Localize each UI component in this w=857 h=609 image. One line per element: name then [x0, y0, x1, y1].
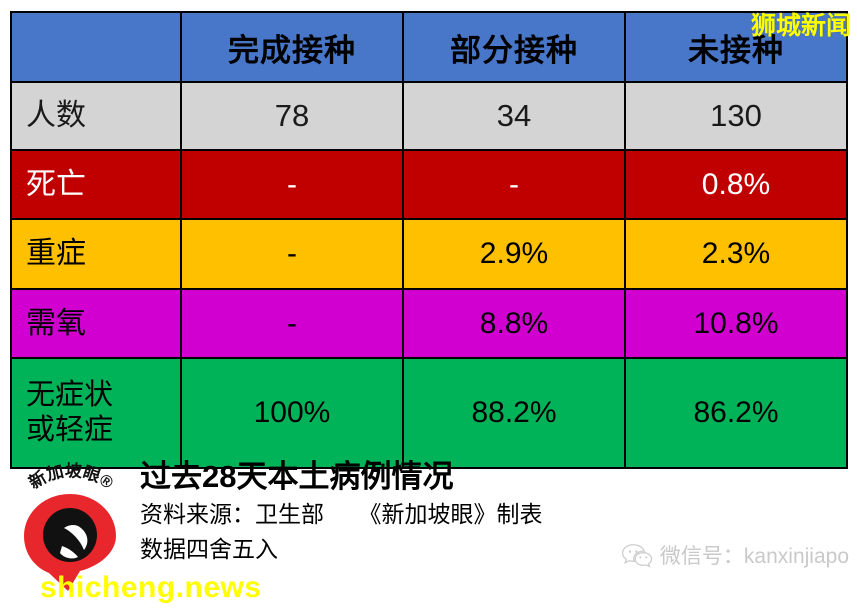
cell-severe-fully: - — [181, 219, 403, 289]
wechat-handle-block: 微信号：kanxinjiapo — [621, 540, 849, 570]
header-cell-blank — [11, 12, 181, 82]
row-label-mild: 无症状 或轻症 — [11, 358, 181, 468]
table-row-severe: 重症 - 2.9% 2.3% — [11, 219, 847, 289]
cell-deaths-fully: - — [181, 150, 403, 219]
row-label-oxygen: 需氧 — [11, 289, 181, 358]
cell-oxygen-fully: - — [181, 289, 403, 358]
cell-mild-unvaccinated: 86.2% — [625, 358, 847, 468]
cell-case-count-fully: 78 — [181, 82, 403, 150]
footer-note-line: 数据四舍五入 — [140, 532, 700, 568]
row-label-deaths: 死亡 — [11, 150, 181, 219]
footer-title: 过去28天本土病例情况 — [140, 458, 700, 497]
covid-stats-table: 完成接种 部分接种 未接种 人数 78 34 130 死亡 - - 0.8% 重… — [10, 11, 848, 469]
cell-oxygen-partial: 8.8% — [403, 289, 625, 358]
cell-mild-partial: 88.2% — [403, 358, 625, 468]
svg-text:新加坡眼®: 新加坡眼® — [25, 462, 117, 493]
table-header-row: 完成接种 部分接种 未接种 — [11, 12, 847, 82]
table-row-deaths: 死亡 - - 0.8% — [11, 150, 847, 219]
header-cell-partially-vaccinated: 部分接种 — [403, 12, 625, 82]
wechat-icon — [621, 542, 653, 568]
table-row-oxygen: 需氧 - 8.8% 10.8% — [11, 289, 847, 358]
row-label-case-count: 人数 — [11, 82, 181, 150]
cell-deaths-partial: - — [403, 150, 625, 219]
footer: 新加坡眼® 过去28天本土病例情况 资料来源：卫生部 《新加坡眼》制表 数据四舍… — [0, 458, 857, 609]
cell-case-count-partial: 34 — [403, 82, 625, 150]
cell-mild-fully: 100% — [181, 358, 403, 468]
table-row-mild: 无症状 或轻症 100% 88.2% 86.2% — [11, 358, 847, 468]
wechat-handle-label: 微信号：kanxinjiapo — [660, 540, 849, 570]
header-cell-fully-vaccinated: 完成接种 — [181, 12, 403, 82]
cell-severe-partial: 2.9% — [403, 219, 625, 289]
table-row-case-count: 人数 78 34 130 — [11, 82, 847, 150]
cell-oxygen-unvaccinated: 10.8% — [625, 289, 847, 358]
row-label-severe: 重症 — [11, 219, 181, 289]
watermark-top-right: 狮城新闻 — [751, 6, 851, 42]
cell-case-count-unvaccinated: 130 — [625, 82, 847, 150]
footer-text-block: 过去28天本土病例情况 资料来源：卫生部 《新加坡眼》制表 数据四舍五入 — [140, 458, 700, 568]
watermark-bottom-left: shicheng.news — [40, 571, 262, 605]
footer-source-line: 资料来源：卫生部 《新加坡眼》制表 — [140, 497, 700, 533]
cell-severe-unvaccinated: 2.3% — [625, 219, 847, 289]
cell-deaths-unvaccinated: 0.8% — [625, 150, 847, 219]
